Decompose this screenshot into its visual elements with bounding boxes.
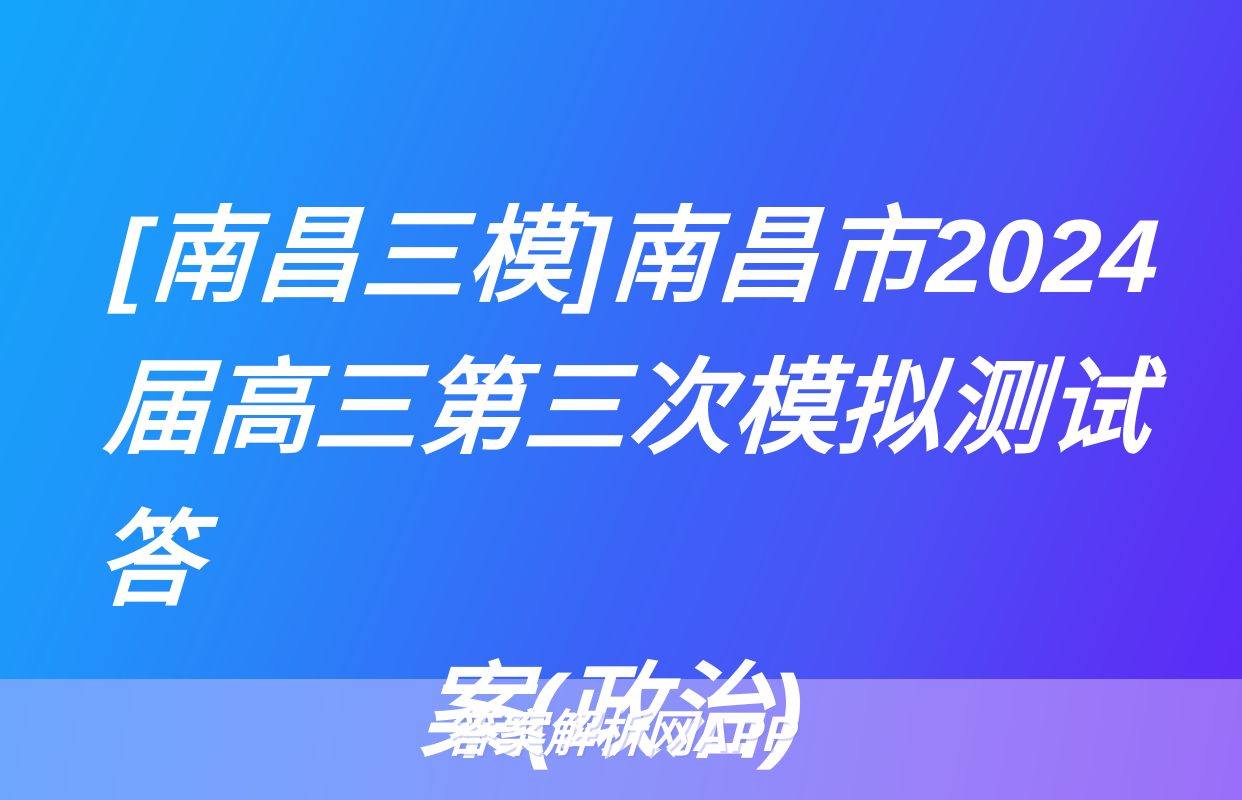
page-title: [南昌三模]南昌市2024 届高三第三次模拟测试答 案(政治) <box>85 181 1163 789</box>
page-title-line-2: 届高三第三次模拟测试答 <box>93 333 1155 637</box>
poster-image: [南昌三模]南昌市2024 届高三第三次模拟测试答 案(政治) 答案解析网APP <box>0 0 1242 800</box>
page-title-line-1: [南昌三模]南昌市2024 <box>109 181 1163 333</box>
watermark-label: 答案解析网APP <box>0 703 1242 765</box>
